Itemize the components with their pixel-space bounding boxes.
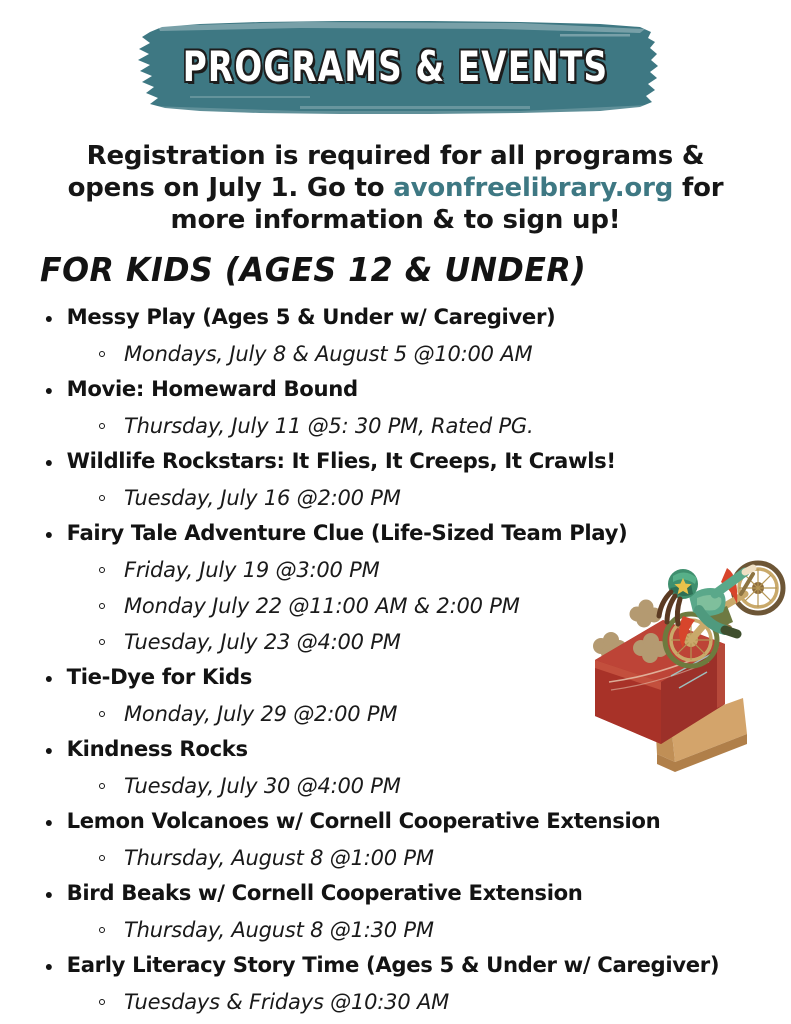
program-list: Messy Play (Ages 5 & Under w/ Caregiver)… [40, 300, 760, 1020]
program-title: Bird Beaks w/ Cornell Cooperative Extens… [40, 876, 749, 912]
program-item: Messy Play (Ages 5 & Under w/ Caregiver)… [40, 300, 760, 372]
program-item: Early Literacy Story Time (Ages 5 & Unde… [40, 948, 760, 1020]
program-session: Friday, July 19 @3:00 PM [40, 552, 760, 588]
program-title: Messy Play (Ages 5 & Under w/ Caregiver) [40, 300, 749, 336]
program-title: Wildlife Rockstars: It Flies, It Creeps,… [40, 444, 749, 480]
program-session: Thursday, August 8 @1:00 PM [40, 840, 760, 876]
program-title: Lemon Volcanoes w/ Cornell Cooperative E… [40, 804, 749, 840]
program-item: Wildlife Rockstars: It Flies, It Creeps,… [40, 444, 760, 516]
program-item: Movie: Homeward Bound Thursday, July 11 … [40, 372, 760, 444]
intro-line-2-suffix: for [673, 173, 723, 203]
intro-line-1: Registration is required for all program… [87, 141, 705, 171]
program-title: Kindness Rocks [40, 732, 749, 768]
intro-line-2-prefix: opens on July 1. Go to [68, 173, 394, 203]
library-website-link[interactable]: avonfreelibrary.org [393, 173, 673, 203]
program-title: Early Literacy Story Time (Ages 5 & Unde… [40, 948, 749, 984]
program-item: Bird Beaks w/ Cornell Cooperative Extens… [40, 876, 760, 948]
program-session: Tuesday, July 30 @4:00 PM [40, 768, 760, 804]
program-session: Monday, July 29 @2:00 PM [40, 696, 760, 732]
page-title: PROGRAMS & EVENTS [87, 42, 704, 92]
header-banner: PROGRAMS & EVENTS [0, 18, 791, 118]
program-title: Movie: Homeward Bound [40, 372, 749, 408]
program-item: Tie-Dye for Kids Monday, July 29 @2:00 P… [40, 660, 760, 732]
section-heading-for-kids: FOR KIDS (AGES 12 & UNDER) [40, 250, 586, 289]
program-session: Monday July 22 @11:00 AM & 2:00 PM [40, 588, 760, 624]
program-session: Thursday, July 11 @5: 30 PM, Rated PG. [40, 408, 760, 444]
program-session: Tuesdays & Fridays @10:30 AM [40, 984, 760, 1020]
program-item: Fairy Tale Adventure Clue (Life-Sized Te… [40, 516, 760, 660]
program-item: Lemon Volcanoes w/ Cornell Cooperative E… [40, 804, 760, 876]
registration-notice: Registration is required for all program… [60, 140, 731, 236]
program-title: Tie-Dye for Kids [40, 660, 749, 696]
intro-line-3: more information & to sign up! [171, 205, 621, 235]
program-item: Kindness Rocks Tuesday, July 30 @4:00 PM [40, 732, 760, 804]
program-session: Mondays, July 8 & August 5 @10:00 AM [40, 336, 760, 372]
program-session: Tuesday, July 23 @4:00 PM [40, 624, 760, 660]
program-session: Thursday, August 8 @1:30 PM [40, 912, 760, 948]
program-title: Fairy Tale Adventure Clue (Life-Sized Te… [40, 516, 749, 552]
program-session: Tuesday, July 16 @2:00 PM [40, 480, 760, 516]
